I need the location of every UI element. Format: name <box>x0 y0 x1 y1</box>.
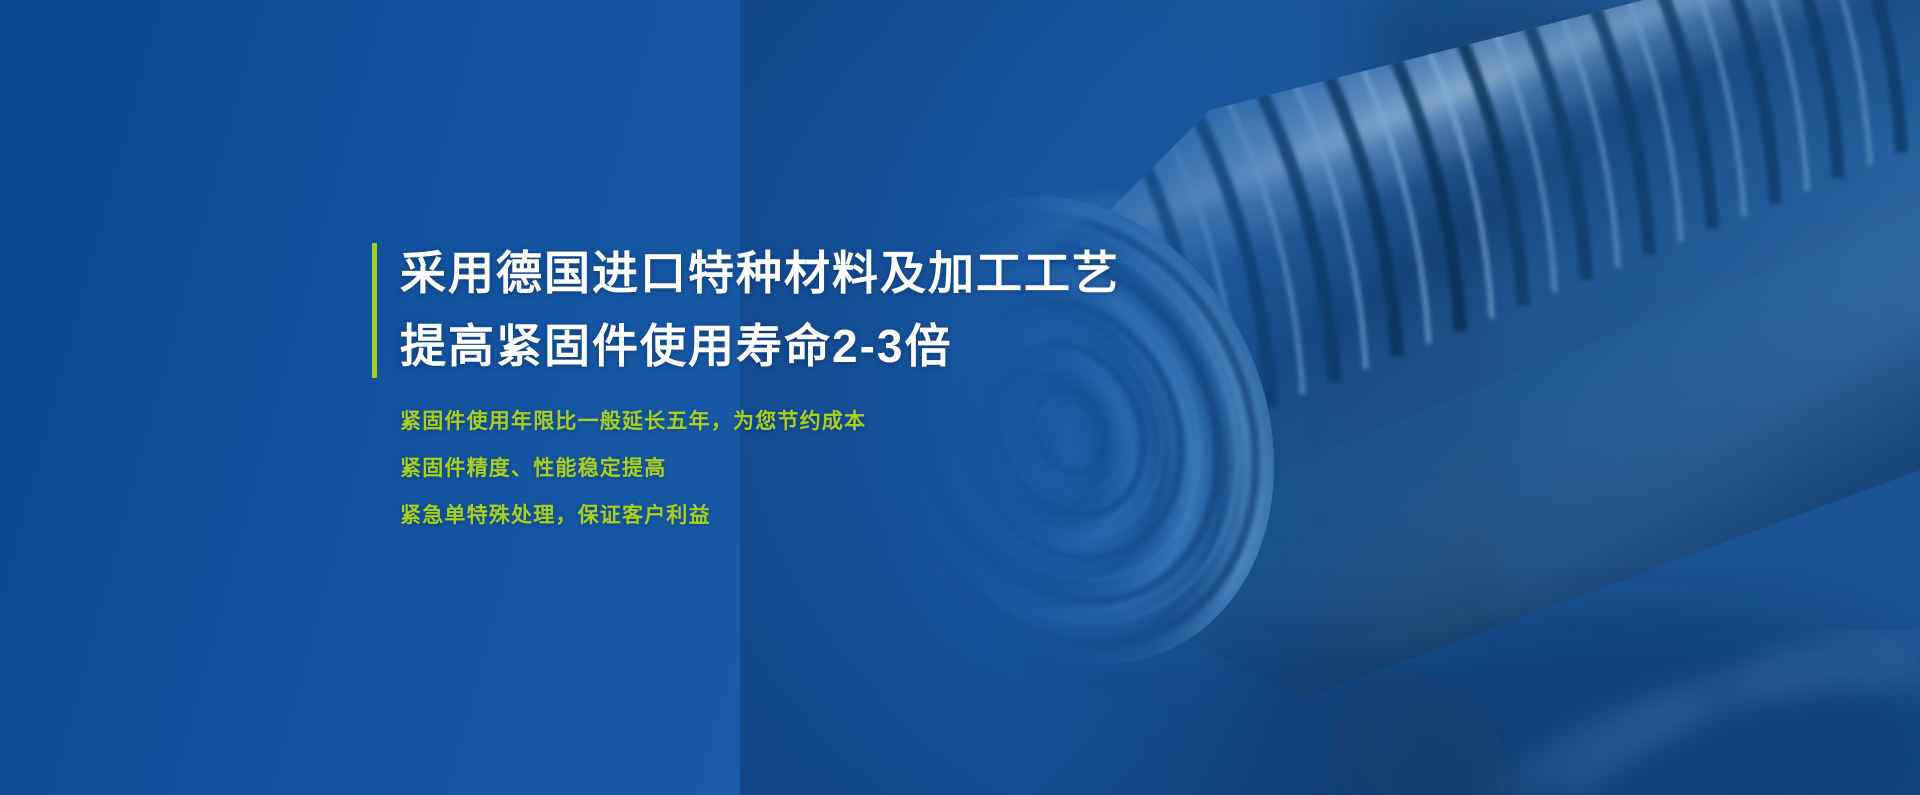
headline-group: 采用德国进口特种材料及加工工艺 提高紧固件使用寿命2-3倍 <box>400 243 1120 376</box>
headline-line-2: 提高紧固件使用寿命2-3倍 <box>400 316 1120 376</box>
subtitle-item-3: 紧急单特殊处理，保证客户利益 <box>400 505 866 526</box>
banner-content: 采用德国进口特种材料及加工工艺 提高紧固件使用寿命2-3倍 紧固件使用年限比一般… <box>372 243 1120 376</box>
headline-line-1: 采用德国进口特种材料及加工工艺 <box>400 243 1120 303</box>
subtitle-item-2: 紧固件精度、性能稳定提高 <box>400 458 866 479</box>
subtitle-list: 紧固件使用年限比一般延长五年，为您节约成本 紧固件精度、性能稳定提高 紧急单特殊… <box>400 411 866 526</box>
subtitle-item-1: 紧固件使用年限比一般延长五年，为您节约成本 <box>400 411 866 432</box>
accent-bar <box>372 243 377 378</box>
hero-banner: 采用德国进口特种材料及加工工艺 提高紧固件使用寿命2-3倍 紧固件使用年限比一般… <box>0 0 1920 795</box>
bolt-illustration <box>740 0 1920 795</box>
threaded-bolt-photo <box>740 0 1920 795</box>
